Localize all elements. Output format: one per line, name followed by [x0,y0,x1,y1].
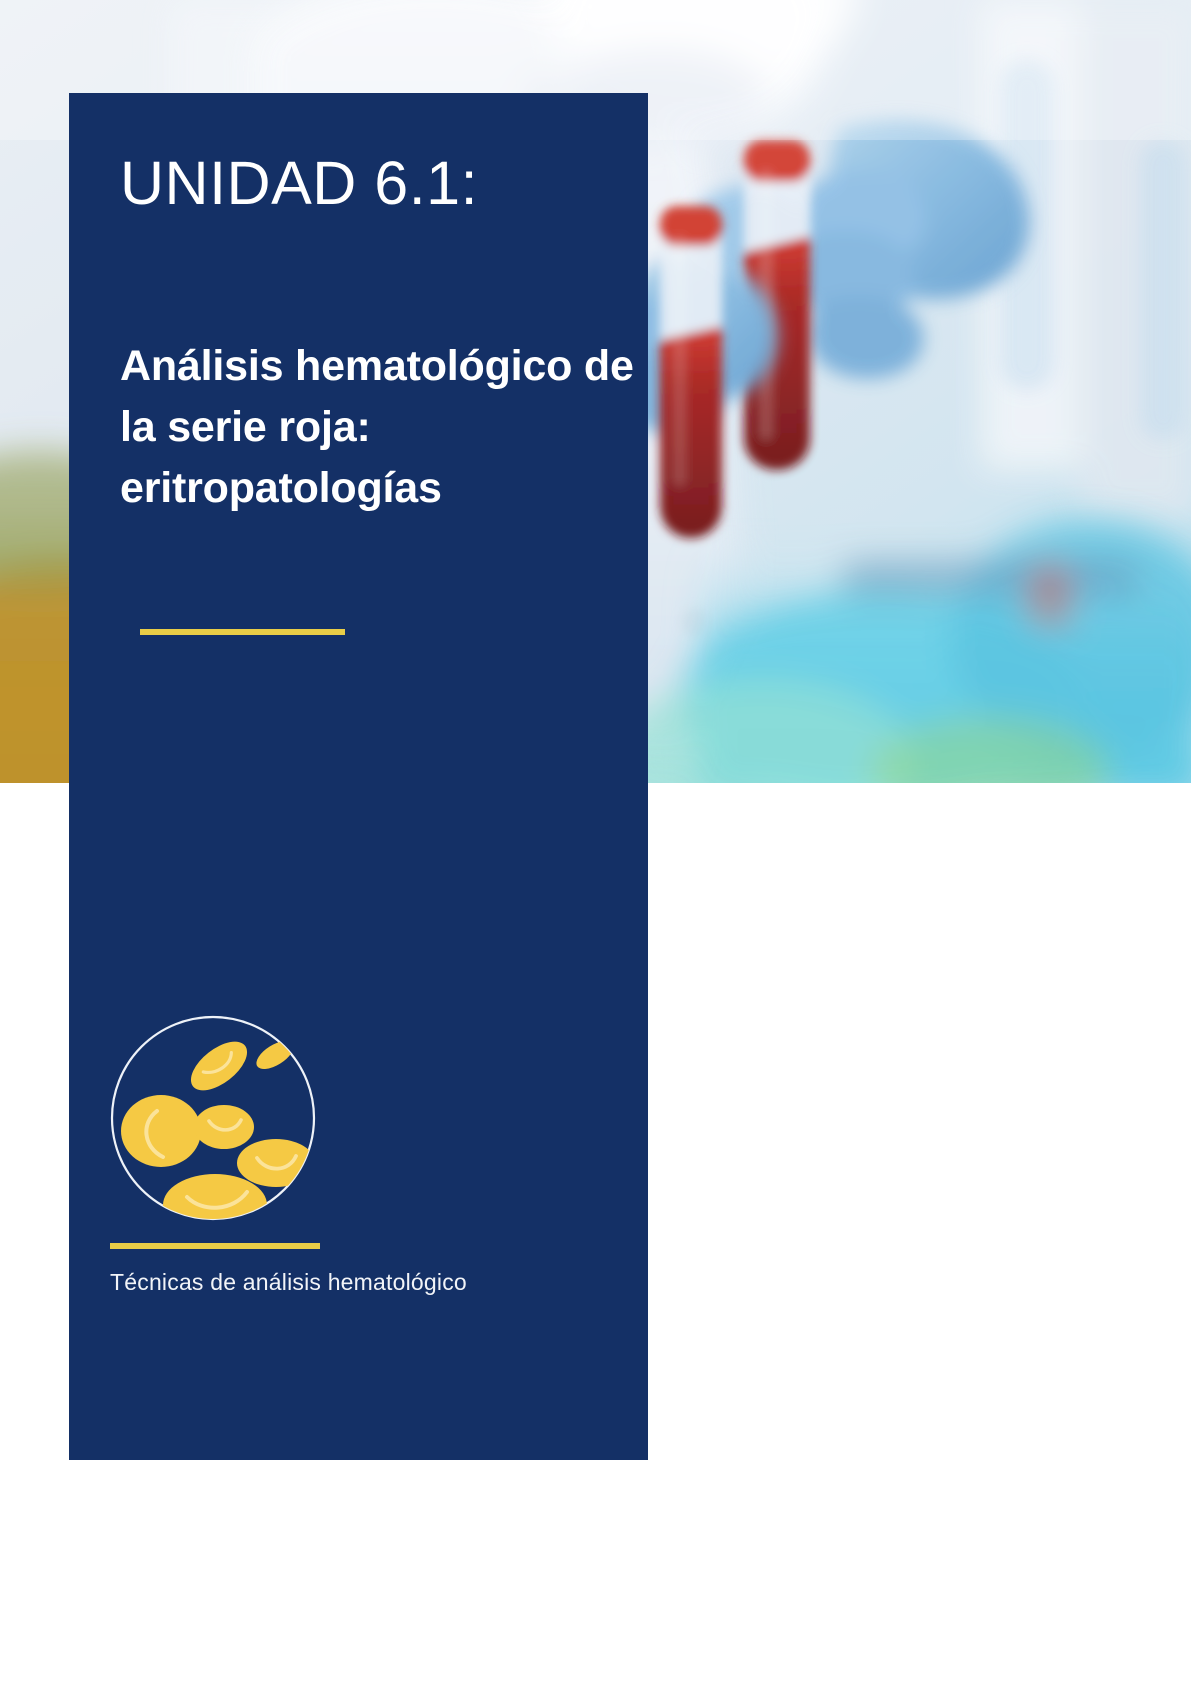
title-divider [140,629,345,635]
unit-label: UNIDAD 6.1: [120,151,640,215]
page-title: Análisis hematológico de la serie roja: … [120,336,640,519]
course-caption: Técnicas de análisis hematológico [110,1268,610,1298]
red-blood-cells-icon [107,1011,327,1227]
cover-page: UNIDAD 6.1: Análisis hematológico de la … [0,0,1191,1684]
cover-panel: UNIDAD 6.1: Análisis hematológico de la … [69,93,648,1460]
caption-divider [110,1243,320,1249]
